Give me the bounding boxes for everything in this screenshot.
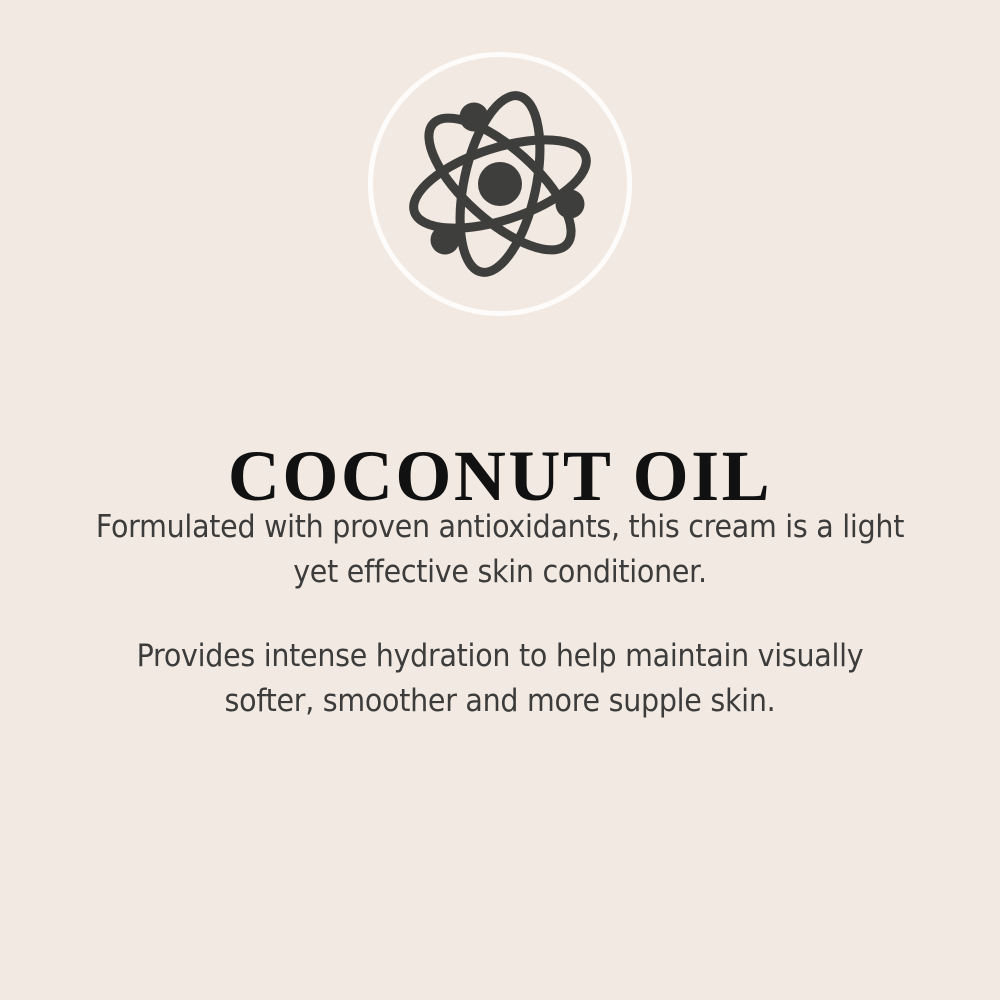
electron-top-left [460, 103, 489, 132]
atom-nucleus [478, 162, 522, 206]
page-title: COCONUT OIL [0, 440, 1000, 512]
atom-icon [398, 82, 602, 286]
electron-bottom-left [431, 226, 460, 255]
description-block: Formulated with proven antioxidants, thi… [60, 505, 940, 724]
ingredient-info-card: COCONUT OIL Formulated with proven antio… [0, 0, 1000, 1000]
atom-icon-badge [368, 52, 632, 316]
description-paragraph-2: Provides intense hydration to help maint… [95, 634, 905, 724]
electron-right [556, 190, 585, 219]
description-paragraph-1: Formulated with proven antioxidants, thi… [95, 505, 905, 595]
